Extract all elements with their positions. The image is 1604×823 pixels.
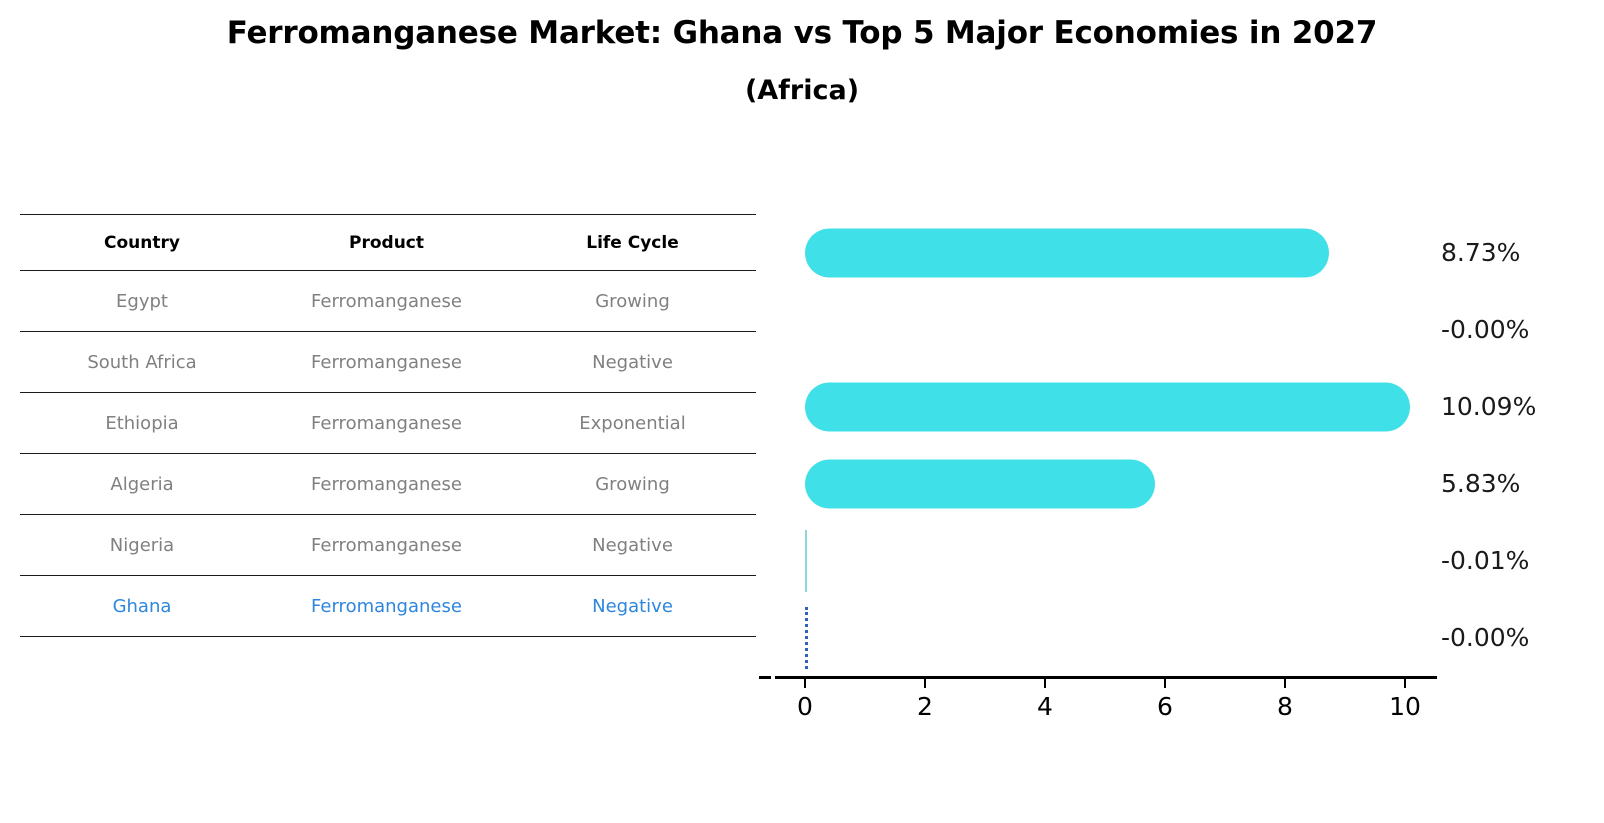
cell-life-cycle: Growing bbox=[509, 271, 756, 332]
x-tick-label: 0 bbox=[797, 692, 813, 721]
value-label: 5.83% bbox=[1441, 451, 1604, 516]
bar-chart: 0246810 bbox=[775, 214, 1437, 684]
x-tick-mark bbox=[1404, 679, 1406, 688]
table-row: AlgeriaFerromanganeseGrowing bbox=[20, 454, 756, 515]
table-row: GhanaFerromanganeseNegative bbox=[20, 576, 756, 637]
country-table: Country Product Life Cycle EgyptFerroman… bbox=[20, 214, 756, 637]
x-tick-label: 6 bbox=[1157, 692, 1173, 721]
value-label: -0.00% bbox=[1441, 297, 1604, 362]
cell-country: Nigeria bbox=[20, 515, 264, 576]
bar-row bbox=[775, 297, 1437, 362]
x-tick-label: 10 bbox=[1389, 692, 1421, 721]
value-label: -0.00% bbox=[1441, 605, 1604, 670]
cell-country: Ethiopia bbox=[20, 393, 264, 454]
value-label-column: 8.73%-0.00%10.09%5.83%-0.01%-0.00% bbox=[1441, 214, 1604, 676]
column-header-life-cycle: Life Cycle bbox=[509, 215, 756, 271]
value-label: 10.09% bbox=[1441, 374, 1604, 439]
cell-life-cycle: Negative bbox=[509, 576, 756, 637]
country-table-container: Country Product Life Cycle EgyptFerroman… bbox=[20, 214, 756, 637]
bar-row bbox=[775, 605, 1437, 670]
title-line-1: Ferromanganese Market: Ghana vs Top 5 Ma… bbox=[0, 14, 1604, 53]
title-line-2: (Africa) bbox=[0, 74, 1604, 108]
column-header-country: Country bbox=[20, 215, 264, 271]
table-body: EgyptFerromanganeseGrowingSouth AfricaFe… bbox=[20, 271, 756, 637]
bar-ghana[interactable] bbox=[805, 607, 808, 669]
bar-row bbox=[775, 528, 1437, 593]
x-tick-mark bbox=[1164, 679, 1166, 688]
cell-product: Ferromanganese bbox=[264, 454, 509, 515]
cell-life-cycle: Exponential bbox=[509, 393, 756, 454]
x-tick-label: 4 bbox=[1037, 692, 1053, 721]
value-label: -0.01% bbox=[1441, 528, 1604, 593]
bar-row bbox=[775, 374, 1437, 439]
table-header-row: Country Product Life Cycle bbox=[20, 215, 756, 271]
table-row: NigeriaFerromanganeseNegative bbox=[20, 515, 756, 576]
plot-area bbox=[775, 214, 1437, 676]
cell-country: South Africa bbox=[20, 332, 264, 393]
cell-product: Ferromanganese bbox=[264, 576, 509, 637]
cell-country: Ghana bbox=[20, 576, 264, 637]
x-tick-label: 2 bbox=[917, 692, 933, 721]
x-tick-mark bbox=[1284, 679, 1286, 688]
x-tick-mark bbox=[804, 679, 806, 688]
cell-life-cycle: Growing bbox=[509, 454, 756, 515]
cell-product: Ferromanganese bbox=[264, 332, 509, 393]
table-row: EthiopiaFerromanganeseExponential bbox=[20, 393, 756, 454]
table-row: EgyptFerromanganeseGrowing bbox=[20, 271, 756, 332]
value-label: 8.73% bbox=[1441, 220, 1604, 285]
x-tick-mark bbox=[1044, 679, 1046, 688]
cell-country: Egypt bbox=[20, 271, 264, 332]
bar-row bbox=[775, 220, 1437, 285]
table-header: Country Product Life Cycle bbox=[20, 215, 756, 271]
bar-egypt[interactable] bbox=[805, 228, 1329, 277]
table-row: South AfricaFerromanganeseNegative bbox=[20, 332, 756, 393]
cell-product: Ferromanganese bbox=[264, 271, 509, 332]
bar-row bbox=[775, 451, 1437, 516]
cell-country: Algeria bbox=[20, 454, 264, 515]
axis-left-tick-mark bbox=[759, 676, 771, 679]
cell-life-cycle: Negative bbox=[509, 332, 756, 393]
bar-algeria[interactable] bbox=[805, 459, 1155, 508]
x-tick-label: 8 bbox=[1277, 692, 1293, 721]
cell-life-cycle: Negative bbox=[509, 515, 756, 576]
column-header-product: Product bbox=[264, 215, 509, 271]
bar-ethiopia[interactable] bbox=[805, 382, 1410, 431]
chart-page: Ferromanganese Market: Ghana vs Top 5 Ma… bbox=[0, 0, 1604, 823]
page-title: Ferromanganese Market: Ghana vs Top 5 Ma… bbox=[0, 14, 1604, 108]
cell-product: Ferromanganese bbox=[264, 515, 509, 576]
bar-nigeria[interactable] bbox=[805, 530, 807, 592]
cell-product: Ferromanganese bbox=[264, 393, 509, 454]
x-axis-line bbox=[775, 676, 1437, 679]
x-tick-mark bbox=[924, 679, 926, 688]
